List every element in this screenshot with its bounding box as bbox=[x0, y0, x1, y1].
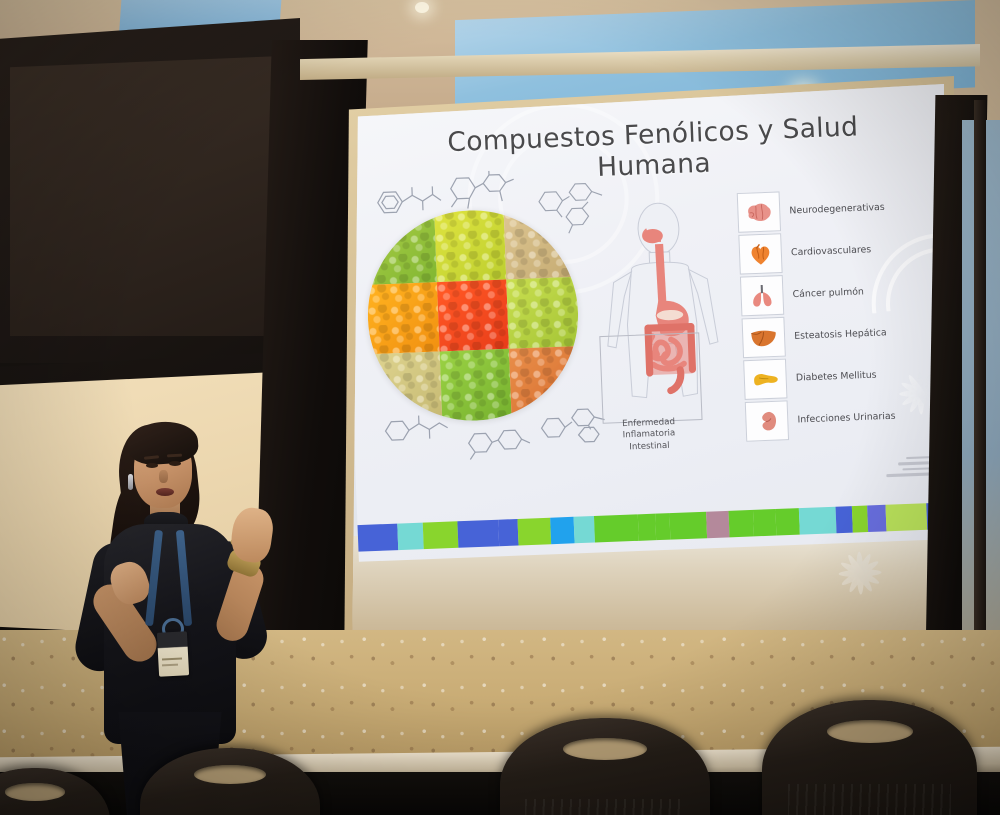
liver-icon bbox=[742, 317, 786, 358]
legend-label: Infecciones Urinarias bbox=[797, 411, 895, 426]
chemical-structure-icon bbox=[464, 425, 533, 467]
dark-wall-panel-inner bbox=[10, 56, 282, 336]
chair bbox=[0, 768, 110, 815]
food-cell bbox=[364, 212, 437, 285]
food-cell bbox=[439, 349, 512, 422]
legend-item-diabetes-mellitus: Diabetes Mellitus bbox=[743, 352, 926, 401]
color-band-segment bbox=[358, 524, 399, 552]
color-band-segment bbox=[867, 505, 886, 532]
color-band-segment bbox=[638, 514, 656, 541]
legend-label: Cardiovasculares bbox=[791, 244, 872, 258]
legend-item-esteatosis-hepatica: Esteatosis Hepática bbox=[741, 310, 924, 359]
chair bbox=[140, 748, 320, 815]
chair-handle-cutout bbox=[5, 783, 65, 801]
chair-handle-cutout bbox=[194, 765, 266, 784]
kidney-icon bbox=[745, 400, 789, 441]
food-cell bbox=[367, 282, 440, 355]
color-band-segment bbox=[397, 523, 423, 550]
disease-legend: Neurodegenerativas Cardiovasc bbox=[737, 185, 928, 443]
presentation-slide: Compuestos Fenólicos y Salud Humana bbox=[352, 84, 944, 562]
chair bbox=[762, 700, 977, 815]
color-band-segment bbox=[457, 520, 500, 548]
color-band-segment bbox=[852, 506, 869, 533]
legend-label: Esteatosis Hepática bbox=[794, 327, 887, 342]
brain-icon bbox=[737, 191, 781, 232]
color-band-segment bbox=[799, 507, 836, 535]
color-band-segment bbox=[498, 519, 518, 546]
color-band-segment bbox=[776, 508, 801, 535]
presenter-eye bbox=[169, 461, 181, 466]
food-cell bbox=[509, 346, 582, 419]
legend-item-cancer-pulmon: Cáncer pulmón bbox=[740, 269, 923, 318]
presenter-badge bbox=[157, 631, 189, 677]
food-cell bbox=[437, 279, 510, 352]
presentation-photo-scene: Compuestos Fenólicos y Salud Humana bbox=[0, 0, 1000, 815]
chair-ribs bbox=[525, 799, 685, 815]
color-band-segment bbox=[655, 513, 670, 540]
legend-label: Neurodegenerativas bbox=[789, 202, 885, 217]
legend-item-cardiovasculares: Cardiovasculares bbox=[738, 227, 921, 276]
color-band-segment bbox=[836, 506, 853, 533]
chair-ribs bbox=[788, 784, 951, 815]
food-collage-circle bbox=[364, 206, 582, 424]
presenter-nose bbox=[159, 470, 168, 483]
lungs-icon bbox=[740, 275, 784, 316]
chair-handle-cutout bbox=[563, 738, 647, 760]
food-cell bbox=[434, 209, 507, 282]
body-caption: Enfermedad Inflamatoria Intestinal bbox=[594, 416, 703, 455]
legend-item-infecciones-urinarias: Infecciones Urinarias bbox=[745, 394, 928, 443]
ceiling-light bbox=[415, 2, 429, 13]
color-band-segment bbox=[573, 516, 595, 543]
pancreas-icon bbox=[743, 359, 787, 400]
color-band-segment bbox=[706, 511, 729, 538]
color-band-segment bbox=[550, 517, 574, 544]
food-cell bbox=[369, 352, 442, 425]
food-cell bbox=[507, 276, 580, 349]
heart-icon bbox=[738, 233, 782, 274]
presenter-earring bbox=[128, 474, 133, 490]
color-band-segment bbox=[885, 503, 927, 531]
digestive-highlight-box bbox=[599, 332, 702, 423]
color-band-segment bbox=[517, 518, 551, 546]
color-band-segment bbox=[670, 512, 708, 540]
legend-item-neurodegenerativas: Neurodegenerativas bbox=[737, 185, 920, 234]
presenter-mouth bbox=[156, 488, 174, 496]
projection-screen: Compuestos Fenólicos y Salud Humana bbox=[352, 84, 944, 676]
color-band-segment bbox=[753, 509, 777, 536]
presenter-eye bbox=[146, 463, 158, 468]
legend-label: Diabetes Mellitus bbox=[796, 369, 877, 383]
color-band-segment bbox=[728, 510, 754, 537]
pillar-right-edge bbox=[974, 100, 986, 700]
color-band-segment bbox=[422, 521, 458, 549]
chair bbox=[500, 718, 710, 815]
legend-label: Cáncer pulmón bbox=[792, 286, 864, 300]
color-band-segment bbox=[594, 514, 639, 542]
food-cell bbox=[504, 206, 577, 279]
